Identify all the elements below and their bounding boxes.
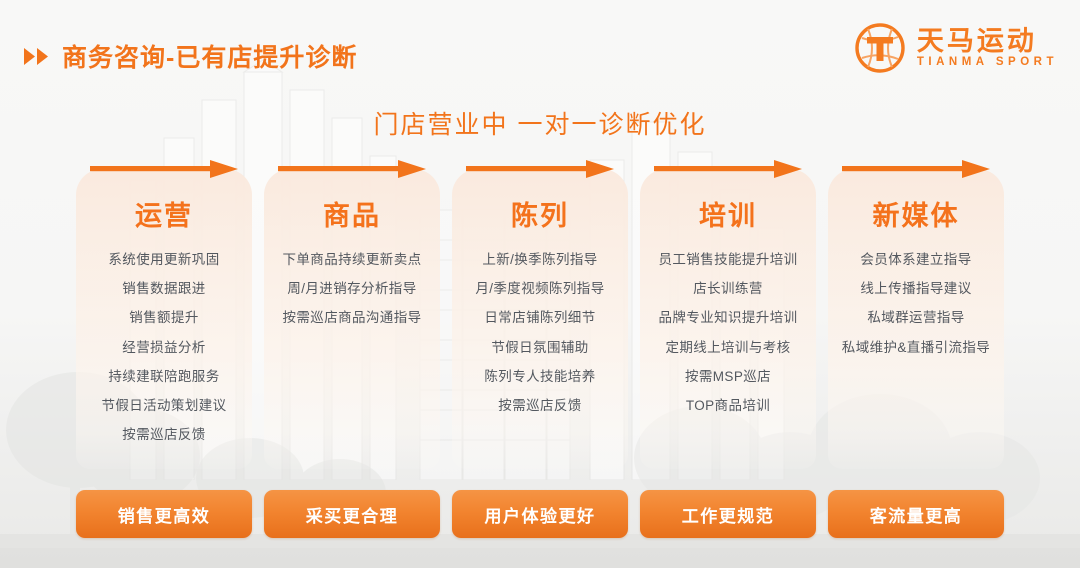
process-column: 运营系统使用更新巩固销售数据跟进销售额提升经营损益分析持续建联陪跑服务节假日活动… [76, 160, 252, 469]
process-column: 商品下单商品持续更新卖点周/月进销存分析指导按需巡店商品沟通指导 [264, 160, 440, 469]
outcome-button[interactable]: 客流量更高 [828, 490, 1004, 538]
logo-name-en: TIANMA SPORT [917, 57, 1058, 69]
process-item: 日常店铺陈列细节 [456, 310, 624, 326]
process-card: 培训员工销售技能提升培训店长训练营品牌专业知识提升培训定期线上培训与考核按需MS… [640, 169, 816, 469]
process-item: 线上传播指导建议 [832, 281, 1000, 297]
process-column: 培训员工销售技能提升培训店长训练营品牌专业知识提升培训定期线上培训与考核按需MS… [640, 160, 816, 469]
process-card-title: 培训 [644, 203, 812, 230]
process-card-title: 陈列 [456, 203, 624, 230]
process-item-list: 员工销售技能提升培训店长训练营品牌专业知识提升培训定期线上培训与考核按需MSP巡… [644, 252, 812, 414]
outcome-button[interactable]: 采买更合理 [264, 490, 440, 538]
page-header: 商务咨询-已有店提升诊断 天马运动 TIANMA SPORT [0, 0, 1080, 96]
process-item: 持续建联陪跑服务 [80, 369, 248, 385]
process-item: 私域群运营指导 [832, 310, 1000, 326]
process-item: 定期线上培训与考核 [644, 340, 812, 356]
subtitle: 门店营业中 一对一诊断优化 [0, 105, 1080, 141]
process-item: 按需巡店反馈 [456, 398, 624, 414]
fast-forward-icon [24, 48, 50, 65]
process-item: 下单商品持续更新卖点 [268, 252, 436, 268]
process-card: 运营系统使用更新巩固销售数据跟进销售额提升经营损益分析持续建联陪跑服务节假日活动… [76, 169, 252, 469]
process-columns: 运营系统使用更新巩固销售数据跟进销售额提升经营损益分析持续建联陪跑服务节假日活动… [0, 160, 1080, 480]
process-item: 销售额提升 [80, 310, 248, 326]
outcome-buttons: 销售更高效采买更合理用户体验更好工作更规范客流量更高 [0, 490, 1080, 538]
title-row: 商务咨询-已有店提升诊断 [24, 38, 357, 74]
logo-name-cn: 天马运动 [917, 28, 1058, 55]
tianma-circle-t-logo-icon [854, 22, 906, 74]
process-card: 新媒体会员体系建立指导线上传播指导建议私域群运营指导私域维护&直播引流指导 [828, 169, 1004, 469]
outcome-button[interactable]: 用户体验更好 [452, 490, 628, 538]
process-card-title: 新媒体 [832, 203, 1000, 230]
process-item: 私域维护&直播引流指导 [832, 340, 1000, 356]
process-item: 节假日活动策划建议 [80, 398, 248, 414]
process-item: 月/季度视频陈列指导 [456, 281, 624, 297]
process-card: 陈列上新/换季陈列指导月/季度视频陈列指导日常店铺陈列细节节假日氛围辅助陈列专人… [452, 169, 628, 469]
outcome-button[interactable]: 工作更规范 [640, 490, 816, 538]
process-item: 周/月进销存分析指导 [268, 281, 436, 297]
process-card: 商品下单商品持续更新卖点周/月进销存分析指导按需巡店商品沟通指导 [264, 169, 440, 469]
process-item: 系统使用更新巩固 [80, 252, 248, 268]
process-item: 按需巡店反馈 [80, 427, 248, 443]
process-item: TOP商品培训 [644, 398, 812, 414]
process-item-list: 系统使用更新巩固销售数据跟进销售额提升经营损益分析持续建联陪跑服务节假日活动策划… [80, 252, 248, 443]
process-column: 陈列上新/换季陈列指导月/季度视频陈列指导日常店铺陈列细节节假日氛围辅助陈列专人… [452, 160, 628, 469]
process-item-list: 会员体系建立指导线上传播指导建议私域群运营指导私域维护&直播引流指导 [832, 252, 1000, 356]
process-item: 按需巡店商品沟通指导 [268, 310, 436, 326]
process-item: 店长训练营 [644, 281, 812, 297]
process-column: 新媒体会员体系建立指导线上传播指导建议私域群运营指导私域维护&直播引流指导 [828, 160, 1004, 469]
logo-text: 天马运动 TIANMA SPORT [917, 28, 1058, 69]
page-title: 商务咨询-已有店提升诊断 [62, 38, 357, 74]
process-item: 陈列专人技能培养 [456, 369, 624, 385]
process-item-list: 上新/换季陈列指导月/季度视频陈列指导日常店铺陈列细节节假日氛围辅助陈列专人技能… [456, 252, 624, 414]
outcome-button[interactable]: 销售更高效 [76, 490, 252, 538]
process-item: 节假日氛围辅助 [456, 340, 624, 356]
brand-logo: 天马运动 TIANMA SPORT [854, 22, 1058, 74]
process-item: 销售数据跟进 [80, 281, 248, 297]
process-item: 品牌专业知识提升培训 [644, 310, 812, 326]
process-card-title: 商品 [268, 203, 436, 230]
process-card-title: 运营 [80, 203, 248, 230]
process-item: 按需MSP巡店 [644, 369, 812, 385]
process-item: 员工销售技能提升培训 [644, 252, 812, 268]
process-item: 会员体系建立指导 [832, 252, 1000, 268]
process-item-list: 下单商品持续更新卖点周/月进销存分析指导按需巡店商品沟通指导 [268, 252, 436, 327]
process-item: 经营损益分析 [80, 340, 248, 356]
process-item: 上新/换季陈列指导 [456, 252, 624, 268]
